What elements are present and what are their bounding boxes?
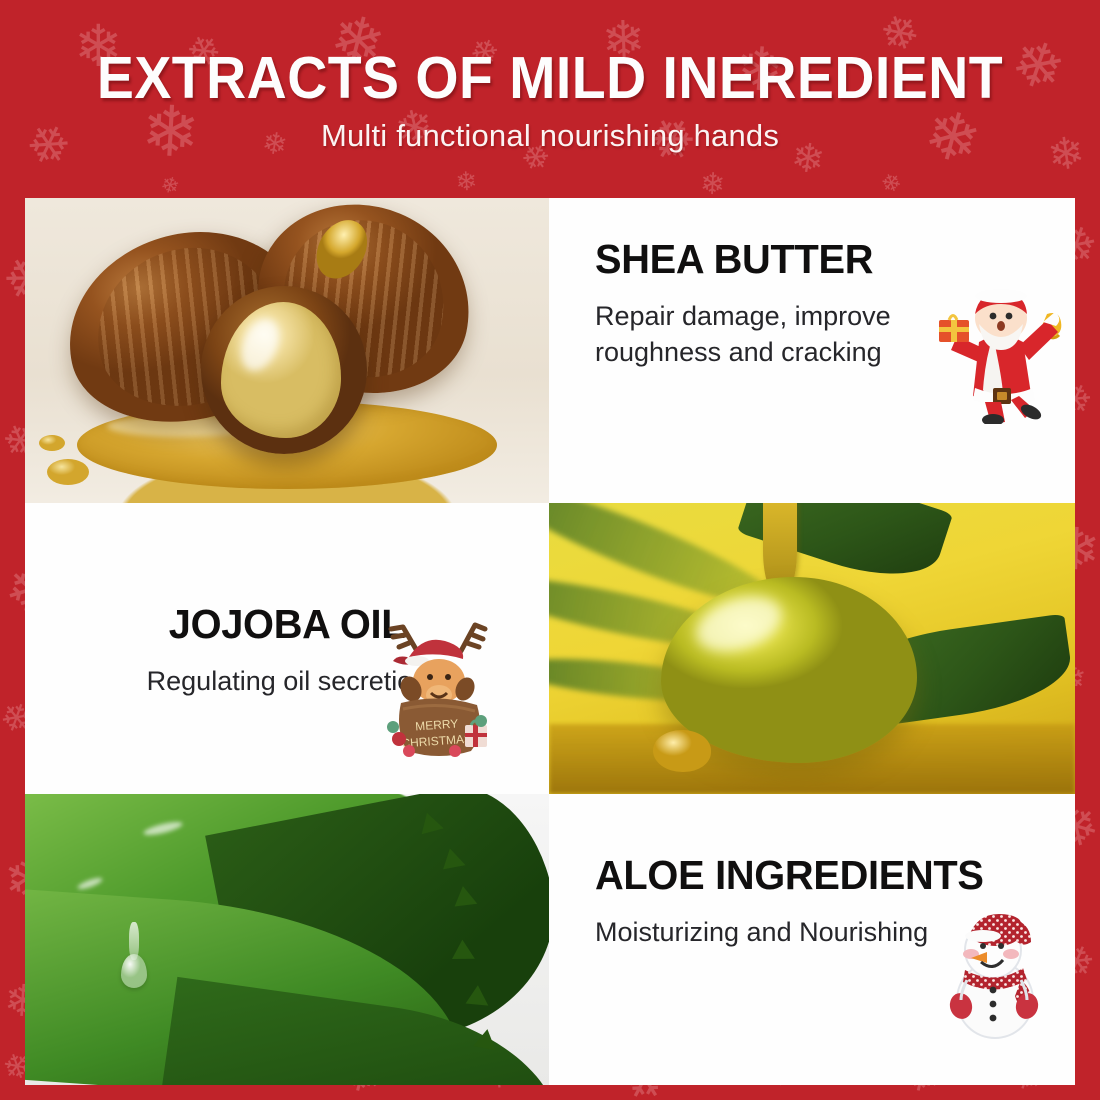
santa-sticker — [935, 284, 1067, 424]
shea-nuts-image — [25, 198, 549, 503]
aloe-leaves-image — [25, 794, 549, 1085]
snowman-sticker — [939, 902, 1059, 1042]
reindeer-sticker: MERRY CHRISTMAS — [387, 599, 491, 759]
shea-kernel — [221, 302, 341, 438]
page-subtitle: Multi functional nourishing hands — [0, 118, 1100, 154]
oil-droplet-small — [39, 435, 65, 451]
jojoba-fruit-image — [549, 503, 1075, 794]
panel-jojoba-oil: JOJOBA OIL Regulating oil secretion — [25, 503, 549, 794]
panel-heading-aloe: ALOE INGREDIENTS — [595, 852, 1041, 899]
gift-box-icon — [939, 316, 969, 343]
oil-droplet — [653, 730, 711, 772]
oil-hollow-highlight — [306, 211, 377, 288]
shea-nut-cracked-open — [201, 286, 367, 454]
panel-shea-butter: SHEA BUTTER Repair damage, improve rough… — [549, 198, 1075, 503]
water-droplet — [121, 954, 147, 988]
panel-heading-shea: SHEA BUTTER — [595, 236, 1041, 283]
oil-droplet-large — [47, 459, 89, 485]
panel-description-shea: Repair damage, improve roughness and cra… — [595, 299, 925, 371]
page-title: EXTRACTS OF MILD INEREDIENT — [33, 44, 1067, 112]
poster-canvas: ❄❄❄❄❄❄❄❄❄❄❄❄❄❄❄❄❄❄❄❄❄❄❄❄❄❄❄❄❄❄❄❄❄❄❄❄❄❄❄❄… — [0, 0, 1100, 1100]
panel-aloe-ingredients: ALOE INGREDIENTS Moisturizing and Nouris… — [549, 794, 1075, 1085]
ingredient-grid: SHEA BUTTER Repair damage, improve rough… — [25, 198, 1075, 1085]
poster-header: EXTRACTS OF MILD INEREDIENT Multi functi… — [0, 0, 1100, 198]
